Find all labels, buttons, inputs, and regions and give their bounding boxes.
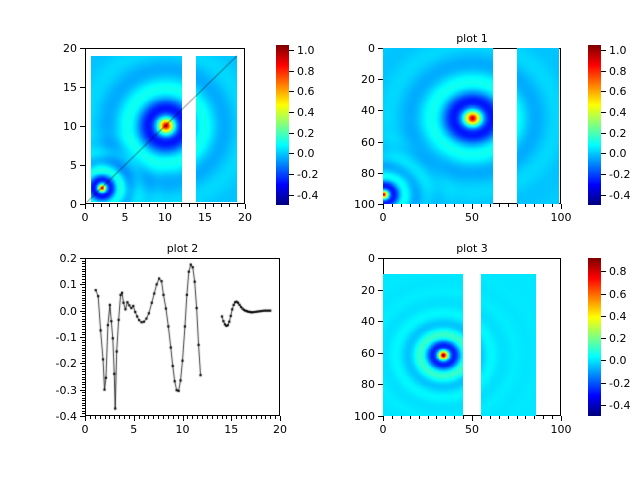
y-tick (378, 142, 383, 143)
x-minor-tick (436, 204, 437, 207)
y-minor-tick (82, 345, 85, 346)
x-minor-tick (163, 416, 164, 419)
colorbar-tick-label: 0.8 (609, 266, 627, 277)
y-minor-tick (82, 266, 85, 267)
y-tick-label: -0.1 (37, 332, 77, 343)
y-tick (378, 79, 383, 80)
x-tick (245, 204, 246, 209)
y-minor-tick (82, 337, 85, 338)
colorbar-tick-label: 0.6 (297, 86, 315, 97)
x-minor-tick (226, 416, 227, 419)
x-minor-tick (221, 204, 222, 207)
x-minor-tick (463, 416, 464, 419)
x-minor-tick (144, 416, 145, 419)
y-minor-tick (82, 334, 85, 335)
y-minor-tick (82, 287, 85, 288)
x-minor-tick (133, 204, 134, 207)
x-tick-label: 10 (145, 212, 185, 223)
x-minor-tick (472, 204, 473, 207)
x-minor-tick (428, 416, 429, 419)
y-minor-tick (82, 405, 85, 406)
overlay-diagonal-line (85, 48, 245, 204)
colorbar-tick (289, 174, 294, 175)
panel-title-plot-2: plot 2 (85, 243, 280, 255)
y-tick-label: 80 (337, 168, 375, 179)
y-minor-tick (82, 398, 85, 399)
x-minor-tick (552, 416, 553, 419)
x-minor-tick (490, 416, 491, 419)
colorbar-tick-label: 1.0 (609, 45, 627, 56)
y-minor-tick (82, 313, 85, 314)
x-minor-tick (212, 416, 213, 419)
x-minor-tick (236, 416, 237, 419)
colorbar-plot-3 (588, 258, 601, 416)
x-minor-tick (101, 204, 102, 207)
y-minor-tick (82, 353, 85, 354)
x-minor-tick (543, 204, 544, 207)
y-minor-tick (82, 384, 85, 385)
y-minor-tick (82, 408, 85, 409)
x-minor-tick (173, 416, 174, 419)
y-tick-label: 40 (337, 316, 375, 327)
colorbar-tick (289, 195, 294, 196)
y-tick-label: 0.1 (37, 279, 77, 290)
y-minor-tick (82, 403, 85, 404)
y-minor-tick (82, 303, 85, 304)
x-minor-tick (114, 416, 115, 419)
x-minor-tick (168, 416, 169, 419)
y-tick-label: 15 (39, 82, 77, 93)
x-minor-tick (197, 204, 198, 207)
y-minor-tick (82, 290, 85, 291)
colorbar-tick (601, 316, 606, 317)
colorbar-tick-label: 0.0 (609, 148, 627, 159)
y-tick (378, 290, 383, 291)
colorbar-tick (601, 153, 606, 154)
heatmap-image-plot-1-0 (383, 48, 493, 204)
y-minor-tick (82, 363, 85, 364)
y-tick-label: -0.3 (37, 385, 77, 396)
y-minor-tick (82, 263, 85, 264)
y-tick-label: 0.2 (37, 253, 77, 264)
colorbar-tick-label: -0.2 (297, 169, 318, 180)
x-minor-tick (165, 204, 166, 207)
y-minor-tick (82, 374, 85, 375)
y-minor-tick (82, 292, 85, 293)
y-minor-tick (82, 332, 85, 333)
colorbar-tick (289, 91, 294, 92)
y-minor-tick (82, 390, 85, 391)
x-minor-tick (383, 416, 384, 419)
x-minor-tick (261, 416, 262, 419)
y-tick (378, 173, 383, 174)
y-minor-tick (82, 379, 85, 380)
y-tick (80, 126, 85, 127)
x-minor-tick (197, 416, 198, 419)
x-tick-label: 20 (260, 424, 300, 435)
y-minor-tick (82, 324, 85, 325)
y-tick-label: -0.2 (37, 358, 77, 369)
y-minor-tick (82, 271, 85, 272)
colorbar-tick (601, 405, 606, 406)
x-minor-tick (241, 416, 242, 419)
y-tick-label: 20 (39, 43, 77, 54)
y-minor-tick (82, 361, 85, 362)
x-minor-tick (148, 416, 149, 419)
colorbar-plot-1 (588, 45, 601, 205)
x-tick-label: 15 (185, 212, 225, 223)
x-minor-tick (454, 204, 455, 207)
x-minor-tick (472, 416, 473, 419)
y-minor-tick (82, 411, 85, 412)
x-minor-tick (157, 204, 158, 207)
y-minor-tick (82, 350, 85, 351)
x-minor-tick (158, 416, 159, 419)
x-minor-tick (401, 204, 402, 207)
y-minor-tick (82, 395, 85, 396)
heatmap-pixels (481, 274, 536, 416)
colorbar-tick (601, 91, 606, 92)
y-minor-tick (82, 329, 85, 330)
x-minor-tick (95, 416, 96, 419)
y-minor-tick (82, 284, 85, 285)
x-tick (561, 204, 562, 209)
x-minor-tick (90, 416, 91, 419)
x-minor-tick (229, 204, 230, 207)
x-minor-tick (85, 204, 86, 207)
y-minor-tick (82, 311, 85, 312)
x-minor-tick (124, 416, 125, 419)
x-minor-tick (105, 416, 106, 419)
x-minor-tick (481, 416, 482, 419)
x-minor-tick (534, 416, 535, 419)
x-minor-tick (499, 204, 500, 207)
y-tick-label: 0 (39, 199, 77, 210)
line-series-canvas (85, 258, 280, 416)
colorbar-tick (289, 50, 294, 51)
y-minor-tick (82, 348, 85, 349)
y-tick-label: 60 (337, 348, 375, 359)
y-tick-label: 100 (337, 411, 375, 422)
x-tick (561, 416, 562, 421)
colorbar-tick-label: 0.6 (609, 86, 627, 97)
colorbar-tick (601, 271, 606, 272)
x-tick-label: 0 (363, 424, 403, 435)
y-minor-tick (82, 400, 85, 401)
x-tick-label: 0 (363, 212, 403, 223)
x-minor-tick (125, 204, 126, 207)
x-minor-tick (85, 416, 86, 419)
x-minor-tick (141, 204, 142, 207)
y-minor-tick (82, 387, 85, 388)
x-tick-label: 10 (163, 424, 203, 435)
colorbar-tick (601, 174, 606, 175)
y-minor-tick (82, 369, 85, 370)
y-tick-label: 80 (337, 379, 375, 390)
y-minor-tick (82, 358, 85, 359)
y-minor-tick (82, 340, 85, 341)
y-minor-tick (82, 300, 85, 301)
x-minor-tick (445, 204, 446, 207)
y-minor-tick (82, 382, 85, 383)
colorbar-tick (601, 112, 606, 113)
colorbar-tick (601, 383, 606, 384)
y-tick-label: 0.0 (37, 306, 77, 317)
x-minor-tick (192, 416, 193, 419)
y-tick-label: 5 (39, 160, 77, 171)
x-minor-tick (499, 416, 500, 419)
y-tick-label: 0 (337, 253, 375, 264)
y-tick (378, 204, 383, 205)
figure-canvas: plot 1 plot 2 plot 3 05101520051015201.0… (0, 0, 640, 480)
colorbar-tick-label: -0.2 (609, 378, 630, 389)
x-minor-tick (392, 204, 393, 207)
x-tick-label: 20 (225, 212, 265, 223)
heatmap-pixels (517, 48, 560, 204)
y-minor-tick (82, 261, 85, 262)
x-minor-tick (205, 204, 206, 207)
y-tick (378, 48, 383, 49)
colorbar-tick (601, 71, 606, 72)
x-minor-tick (517, 416, 518, 419)
x-minor-tick (275, 416, 276, 419)
y-tick (80, 165, 85, 166)
y-tick (378, 353, 383, 354)
y-tick (378, 384, 383, 385)
colorbar-tick (289, 112, 294, 113)
colorbar-tick-label: -0.4 (609, 400, 630, 411)
colorbar-tick-label: 0.6 (609, 289, 627, 300)
x-minor-tick (256, 416, 257, 419)
x-minor-tick (454, 416, 455, 419)
heatmap-image-plot-1-1 (517, 48, 560, 204)
x-minor-tick (217, 416, 218, 419)
colorbar-tick (601, 195, 606, 196)
colorbar-gradient (588, 258, 601, 416)
heatmap-image-plot-3-0 (383, 274, 463, 416)
x-minor-tick (445, 416, 446, 419)
y-minor-tick (82, 258, 85, 259)
x-tick-label: 50 (452, 424, 492, 435)
x-minor-tick (129, 416, 130, 419)
x-minor-tick (117, 204, 118, 207)
y-tick (80, 87, 85, 88)
y-minor-tick (82, 316, 85, 317)
colorbar-tick (601, 338, 606, 339)
colorbar-tick (601, 360, 606, 361)
y-tick (378, 321, 383, 322)
x-minor-tick (490, 204, 491, 207)
x-minor-tick (481, 204, 482, 207)
y-minor-tick (82, 321, 85, 322)
x-minor-tick (428, 204, 429, 207)
colorbar-tick-label: 0.8 (609, 66, 627, 77)
x-minor-tick (419, 204, 420, 207)
x-minor-tick (187, 416, 188, 419)
x-minor-tick (119, 416, 120, 419)
colorbar-tick (289, 71, 294, 72)
y-minor-tick (82, 413, 85, 414)
x-minor-tick (517, 204, 518, 207)
x-minor-tick (100, 416, 101, 419)
colorbar-tick-label: 0.8 (297, 66, 315, 77)
y-minor-tick (82, 298, 85, 299)
colorbar-tick (601, 294, 606, 295)
x-minor-tick (134, 416, 135, 419)
x-minor-tick (237, 204, 238, 207)
x-minor-tick (383, 204, 384, 207)
x-minor-tick (139, 416, 140, 419)
y-minor-tick (82, 355, 85, 356)
y-minor-tick (82, 416, 85, 417)
y-minor-tick (82, 319, 85, 320)
x-minor-tick (183, 416, 184, 419)
y-minor-tick (82, 392, 85, 393)
y-minor-tick (82, 274, 85, 275)
x-minor-tick (410, 416, 411, 419)
panel-title-plot-1: plot 1 (383, 33, 561, 45)
x-minor-tick (109, 416, 110, 419)
x-minor-tick (401, 416, 402, 419)
colorbar-tick-label: 0.0 (609, 355, 627, 366)
x-minor-tick (93, 204, 94, 207)
x-minor-tick (419, 416, 420, 419)
x-tick-label: 50 (452, 212, 492, 223)
y-tick-label: 40 (337, 105, 375, 116)
y-minor-tick (82, 282, 85, 283)
x-minor-tick (463, 204, 464, 207)
x-minor-tick (231, 416, 232, 419)
colorbar-tick-label: 0.0 (297, 148, 315, 159)
x-minor-tick (436, 416, 437, 419)
x-minor-tick (213, 204, 214, 207)
y-tick (378, 258, 383, 259)
colorbar-tick (289, 133, 294, 134)
y-minor-tick (82, 295, 85, 296)
x-tick-label: 5 (114, 424, 154, 435)
x-minor-tick (392, 416, 393, 419)
x-minor-tick (153, 416, 154, 419)
heatmap-pixels (383, 274, 463, 416)
y-tick (378, 416, 383, 417)
y-minor-tick (82, 279, 85, 280)
y-minor-tick (82, 377, 85, 378)
colorbar-tick-label: 0.4 (297, 107, 315, 118)
x-minor-tick (525, 416, 526, 419)
x-minor-tick (173, 204, 174, 207)
x-minor-tick (189, 204, 190, 207)
x-minor-tick (543, 416, 544, 419)
x-tick-label: 15 (211, 424, 251, 435)
y-tick-label: 10 (39, 121, 77, 132)
y-tick (80, 48, 85, 49)
x-minor-tick (525, 204, 526, 207)
colorbar-tick-label: -0.4 (609, 190, 630, 201)
y-minor-tick (82, 326, 85, 327)
x-tick-label: 5 (105, 212, 145, 223)
x-minor-tick (410, 204, 411, 207)
colorbar-tick-label: -0.2 (609, 169, 630, 180)
y-minor-tick (82, 269, 85, 270)
colorbar-tick-label: -0.4 (297, 190, 318, 201)
colorbar-tick (289, 153, 294, 154)
x-minor-tick (552, 204, 553, 207)
panel-title-plot-3: plot 3 (383, 243, 561, 255)
y-tick-label: 60 (337, 137, 375, 148)
y-minor-tick (82, 342, 85, 343)
x-minor-tick (149, 204, 150, 207)
colorbar-tick-label: 1.0 (297, 45, 315, 56)
colorbar-tick (601, 133, 606, 134)
x-minor-tick (202, 416, 203, 419)
colorbar-tick-label: 0.2 (609, 128, 627, 139)
x-tick-label: 100 (541, 212, 581, 223)
y-tick (80, 204, 85, 205)
x-minor-tick (251, 416, 252, 419)
y-minor-tick (82, 305, 85, 306)
x-minor-tick (181, 204, 182, 207)
colorbar-tick-label: 0.2 (609, 333, 627, 344)
y-tick-label: 20 (337, 285, 375, 296)
y-tick-label: 100 (337, 199, 375, 210)
x-minor-tick (508, 416, 509, 419)
heatmap-image-plot-3-1 (481, 274, 536, 416)
y-tick-label: 0 (337, 43, 375, 54)
x-minor-tick (178, 416, 179, 419)
x-minor-tick (207, 416, 208, 419)
x-minor-tick (280, 416, 281, 419)
y-tick-label: 20 (337, 74, 375, 85)
y-tick-label: -0.4 (37, 411, 77, 422)
x-tick-label: 0 (65, 212, 105, 223)
colorbar-tick-label: 0.2 (297, 128, 315, 139)
colorbar-gradient (588, 45, 601, 205)
y-minor-tick (82, 276, 85, 277)
colorbar-tick-label: 0.4 (609, 107, 627, 118)
colorbar-tick (601, 50, 606, 51)
x-minor-tick (222, 416, 223, 419)
x-minor-tick (270, 416, 271, 419)
x-minor-tick (508, 204, 509, 207)
x-minor-tick (534, 204, 535, 207)
colorbar-tick-label: 0.4 (609, 311, 627, 322)
x-minor-tick (109, 204, 110, 207)
heatmap-pixels (383, 48, 493, 204)
x-minor-tick (265, 416, 266, 419)
y-tick (378, 110, 383, 111)
y-minor-tick (82, 308, 85, 309)
x-tick-label: 0 (65, 424, 105, 435)
y-minor-tick (82, 371, 85, 372)
colorbar-gradient (276, 45, 289, 205)
x-minor-tick (246, 416, 247, 419)
colorbar-top-left (276, 45, 289, 205)
y-minor-tick (82, 366, 85, 367)
x-tick-label: 100 (541, 424, 581, 435)
